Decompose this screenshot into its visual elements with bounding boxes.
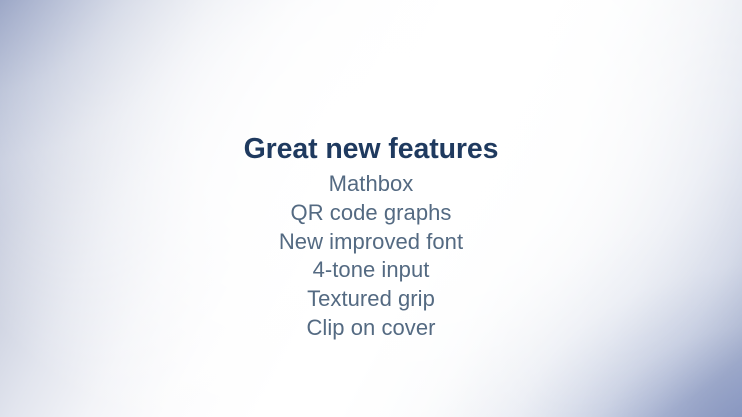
feature-list-item: New improved font	[0, 228, 742, 257]
slide-canvas: Great new features Mathbox QR code graph…	[0, 0, 742, 417]
feature-list-item: Mathbox	[0, 170, 742, 199]
slide-heading: Great new features	[0, 133, 742, 166]
feature-list-item: Clip on cover	[0, 314, 742, 343]
feature-list: Mathbox QR code graphs New improved font…	[0, 170, 742, 343]
feature-list-item: Textured grip	[0, 285, 742, 314]
slide-text-block: Great new features Mathbox QR code graph…	[0, 133, 742, 343]
feature-list-item: QR code graphs	[0, 199, 742, 228]
feature-list-item: 4-tone input	[0, 256, 742, 285]
